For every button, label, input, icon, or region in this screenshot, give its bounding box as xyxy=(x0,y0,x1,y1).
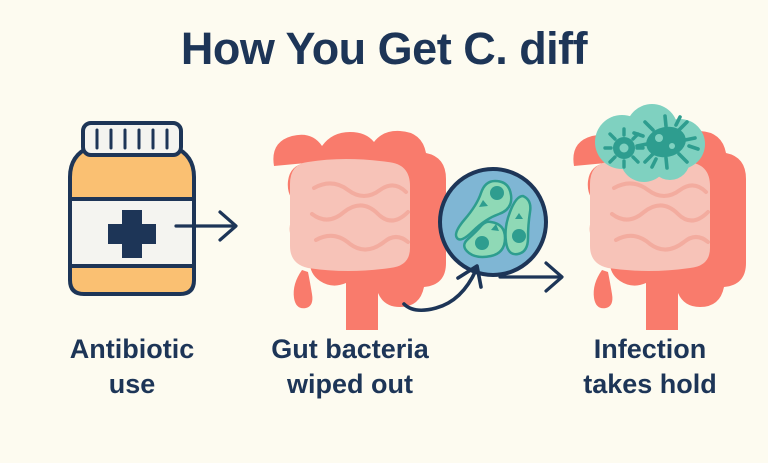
arrow-antibiotic-to-gut-icon xyxy=(172,200,244,248)
step-label-infection-takes-hold: Infection takes hold xyxy=(540,332,760,401)
step-label-line-2: use xyxy=(22,367,242,402)
step-label-gut-bacteria-wiped-out: Gut bacteria wiped out xyxy=(240,332,460,401)
step-label-line-1: Gut bacteria xyxy=(240,332,460,367)
page-title: How You Get C. diff xyxy=(0,24,768,74)
step-antibiotic-use: Antibiotic use xyxy=(32,100,232,440)
step-label-line-1: Infection xyxy=(540,332,760,367)
infographic-canvas: How You Get C. diff xyxy=(0,0,768,463)
arrow-petri-to-infection-icon xyxy=(496,252,572,298)
germ-cloud-icon xyxy=(586,102,714,184)
step-label-antibiotic-use: Antibiotic use xyxy=(22,332,242,401)
arrow-curve-to-infection-icon xyxy=(398,252,502,314)
step-label-line-2: takes hold xyxy=(540,367,760,402)
step-label-line-2: wiped out xyxy=(240,367,460,402)
step-label-line-1: Antibiotic xyxy=(22,332,242,367)
